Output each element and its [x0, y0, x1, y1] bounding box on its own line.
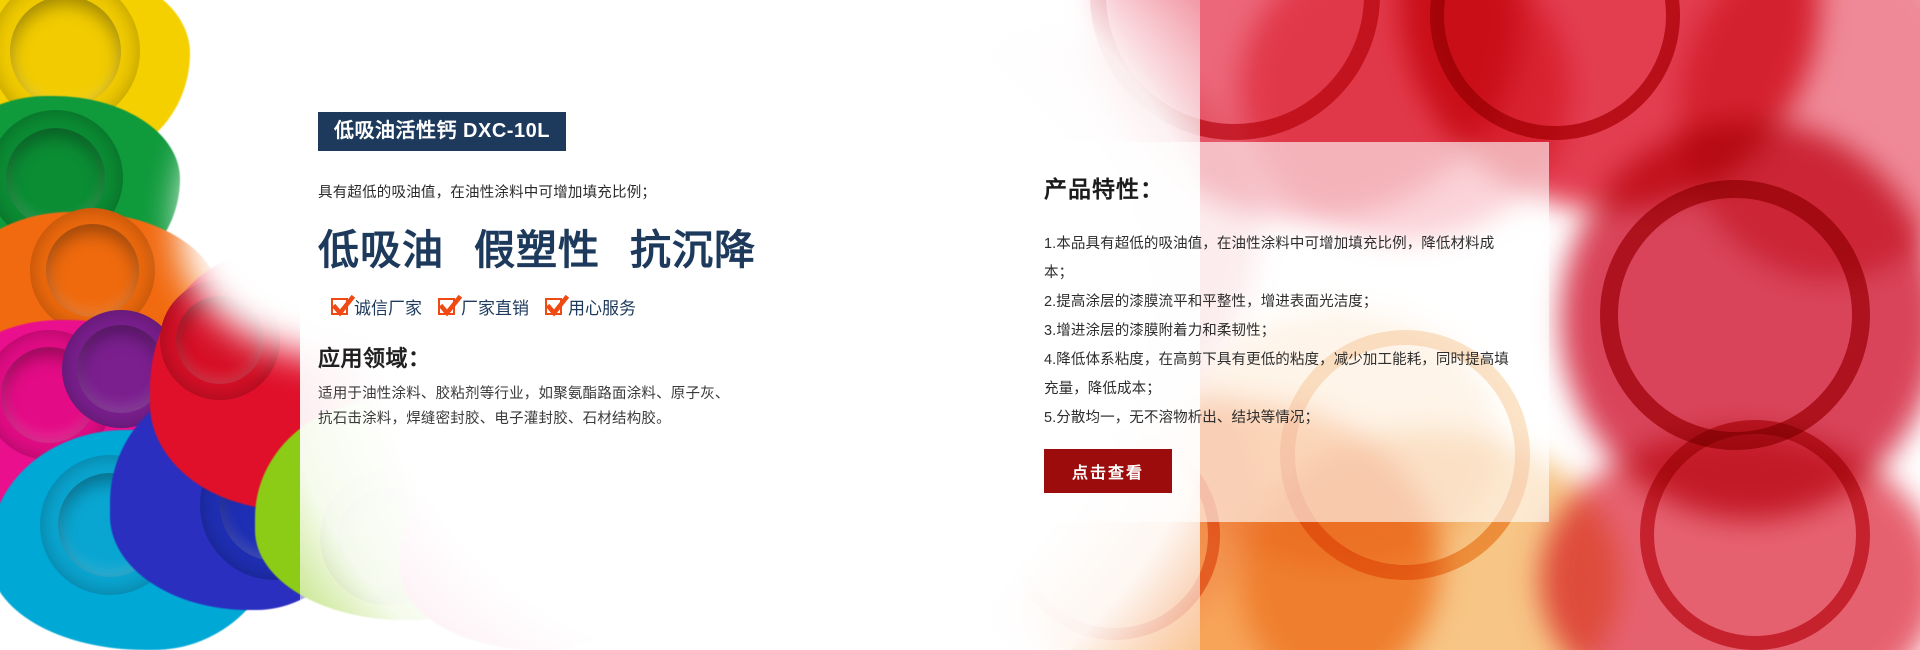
check-square-icon	[331, 298, 348, 315]
headline-word-1: 低吸油	[318, 226, 444, 274]
trust-badge-label-1: 诚信厂家	[354, 294, 422, 319]
background-artwork	[0, 0, 1920, 650]
application-section-body: 适用于油性涂料、胶粘剂等行业，如聚氨酯路面涂料、原子灰、抗石击涂料，焊缝密封胶、…	[318, 382, 733, 433]
features-list: 1.本品具有超低的吸油值，在油性涂料中可增加填充比例，降低材料成本； 2.提高涂…	[1044, 230, 1515, 433]
feature-item-4: 4.降低体系粘度，在高剪下具有更低的粘度，减少加工能耗，同时提高填充量，降低成本…	[1044, 346, 1515, 404]
paint-dish-ring-5	[1640, 420, 1870, 650]
trust-badge-label-3: 用心服务	[568, 294, 636, 319]
headline-word-3: 抗沉降	[630, 226, 756, 274]
feature-item-1: 1.本品具有超低的吸油值，在油性涂料中可增加填充比例，降低材料成本；	[1044, 230, 1515, 288]
features-panel-title: 产品特性：	[1044, 170, 1515, 204]
left-content-block: 低吸油活性钙 DXC-10L 具有超低的吸油值，在油性涂料中可增加填充比例； 低…	[318, 112, 788, 433]
trust-badge-row: 诚信厂家 厂家直销 用心服务	[331, 294, 788, 319]
trust-badge-label-2: 厂家直销	[461, 294, 529, 319]
headline-word-2: 假塑性	[474, 226, 600, 274]
view-details-button[interactable]: 点击查看	[1044, 449, 1172, 493]
headline-keywords: 低吸油假塑性抗沉降	[318, 216, 788, 276]
feature-item-2: 2.提高涂层的漆膜流平和平整性，增进表面光洁度；	[1044, 288, 1515, 317]
trust-badge-2: 厂家直销	[438, 294, 529, 319]
check-square-icon	[438, 298, 455, 315]
trust-badge-1: 诚信厂家	[331, 294, 422, 319]
application-section-title: 应用领域：	[318, 341, 788, 373]
paint-dish-ring-3	[1600, 180, 1870, 450]
check-square-icon	[545, 298, 562, 315]
lead-description: 具有超低的吸油值，在油性涂料中可增加填充比例；	[318, 181, 788, 202]
trust-badge-3: 用心服务	[545, 294, 636, 319]
product-banner: 低吸油活性钙 DXC-10L 具有超低的吸油值，在油性涂料中可增加填充比例； 低…	[0, 0, 1920, 650]
product-title-tag: 低吸油活性钙 DXC-10L	[318, 112, 566, 151]
feature-item-3: 3.增进涂层的漆膜附着力和柔韧性；	[1044, 317, 1515, 346]
product-features-panel: 产品特性： 1.本品具有超低的吸油值，在油性涂料中可增加填充比例，降低材料成本；…	[1004, 142, 1549, 522]
feature-item-5: 5.分散均一，无不溶物析出、结块等情况；	[1044, 404, 1515, 433]
